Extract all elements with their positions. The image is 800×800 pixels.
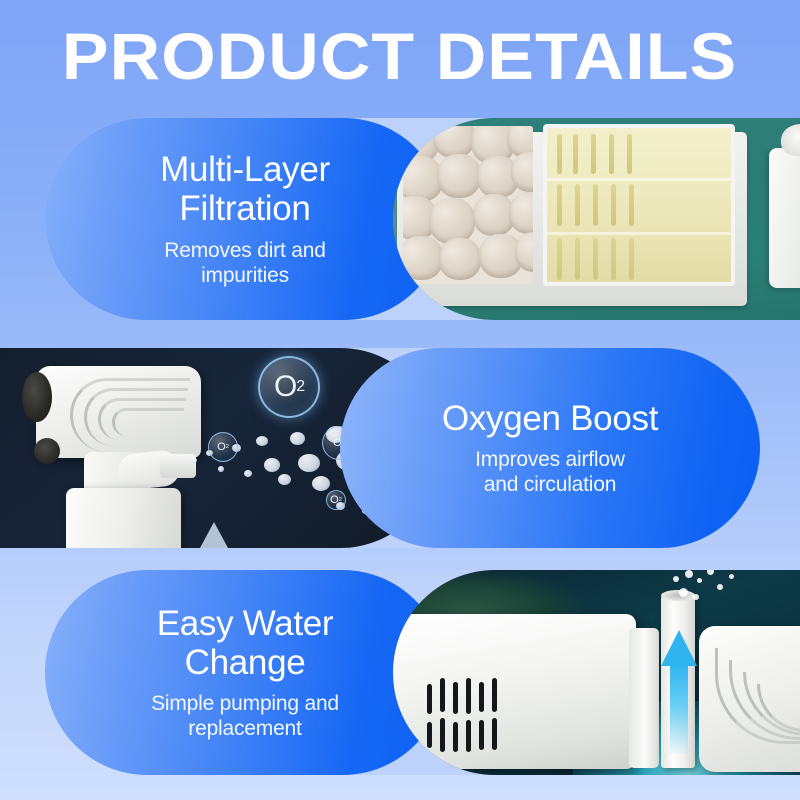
feature-heading: Oxygen Boost [442,399,658,438]
feature-image-multi-layer-filtration [393,118,800,320]
pump-motor-right [699,626,800,772]
water-flow-arrow-icon [661,630,697,754]
pump-motor-unit [742,122,800,314]
feature-subtitle-line2: impurities [201,264,289,287]
o2-bubble-subscript: 2 [296,378,304,396]
feature-subtitle-line1: Simple pumping and [151,692,339,715]
feature-subtitle-line1: Improves airflow [475,448,625,471]
pump-head [36,366,201,458]
feature-subtitle-line1: Removes dirt and [164,239,325,262]
pump-base [66,488,181,548]
feature-panel-multi-layer-filtration: Multi-Layer Filtration Removes dirt and … [45,118,800,320]
feature-subtitle-line2: and circulation [484,473,616,496]
pump-suction-cup-bottom [34,438,60,464]
feature-subtitle-line2: replacement [188,717,301,740]
feature-heading-line2: Filtration [179,189,310,228]
feature-text-capsule: Oxygen Boost Improves airflow and circul… [340,348,760,548]
image-edge-fade [393,118,417,320]
feature-subtitle: Improves airflow and circulation [475,447,625,497]
feature-heading: Multi-Layer Filtration [160,150,330,228]
feature-text-capsule: Multi-Layer Filtration Removes dirt and … [45,118,445,320]
o2-bubble-small-1: O2 [208,432,238,462]
feature-heading-line2: Change [185,643,306,682]
page-title: PRODUCT DETAILS [62,23,737,89]
bio-ball-media [403,126,533,284]
substrate-cone [200,522,228,548]
page-header: PRODUCT DETAILS [0,0,800,112]
intake-grille [427,678,507,758]
water-change-illustration [393,570,800,775]
sponge-filter-layer [543,124,735,286]
feature-image-easy-water-change [393,570,800,775]
feature-subtitle: Removes dirt and impurities [164,238,325,288]
feature-heading-line1: Multi-Layer [160,150,330,189]
o2-bubble-large: O2 [258,356,320,418]
feature-heading: Easy Water Change [157,604,334,682]
feature-text-capsule: Easy Water Change Simple pumping and rep… [45,570,445,775]
feature-panel-oxygen-boost: O2 O2 O2 O2 O2 Oxygen Boost Improves air… [0,348,760,548]
feature-heading-line1: Easy Water [157,604,334,643]
feature-subtitle: Simple pumping and replacement [151,691,339,741]
o2-bubble-small-4: O2 [326,490,346,510]
filter-cartridge-illustration [393,118,800,320]
feature-panel-easy-water-change: Easy Water Change Simple pumping and rep… [45,570,800,775]
feature-heading-line1: Oxygen Boost [442,399,658,438]
o2-bubble-label: O [274,370,296,404]
outlet-tube-mouth [661,590,695,601]
pump-collar [629,628,659,768]
pump-suction-cup-top [22,372,52,422]
